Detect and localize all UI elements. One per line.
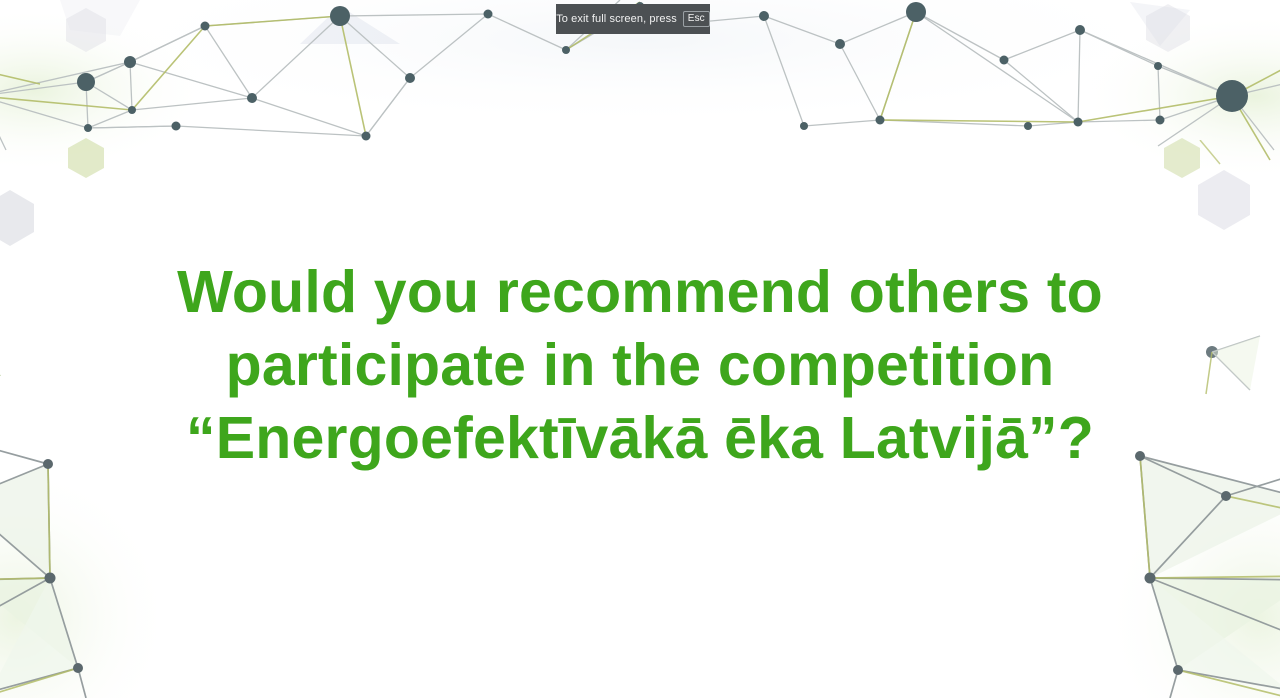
esc-key-badge: Esc: [683, 11, 710, 27]
headline-line-2: participate in the competition: [0, 329, 1280, 402]
fullscreen-toast-message: To exit full screen, press: [556, 13, 677, 25]
slide-headline: Would you recommend others to participat…: [0, 256, 1280, 475]
presentation-slide: Would you recommend others to participat…: [0, 0, 1280, 698]
fullscreen-exit-toast: To exit full screen, press Esc: [556, 4, 710, 34]
headline-line-3: “Energoefektīvākā ēka Latvijā”?: [0, 402, 1280, 475]
headline-line-1: Would you recommend others to: [0, 256, 1280, 329]
